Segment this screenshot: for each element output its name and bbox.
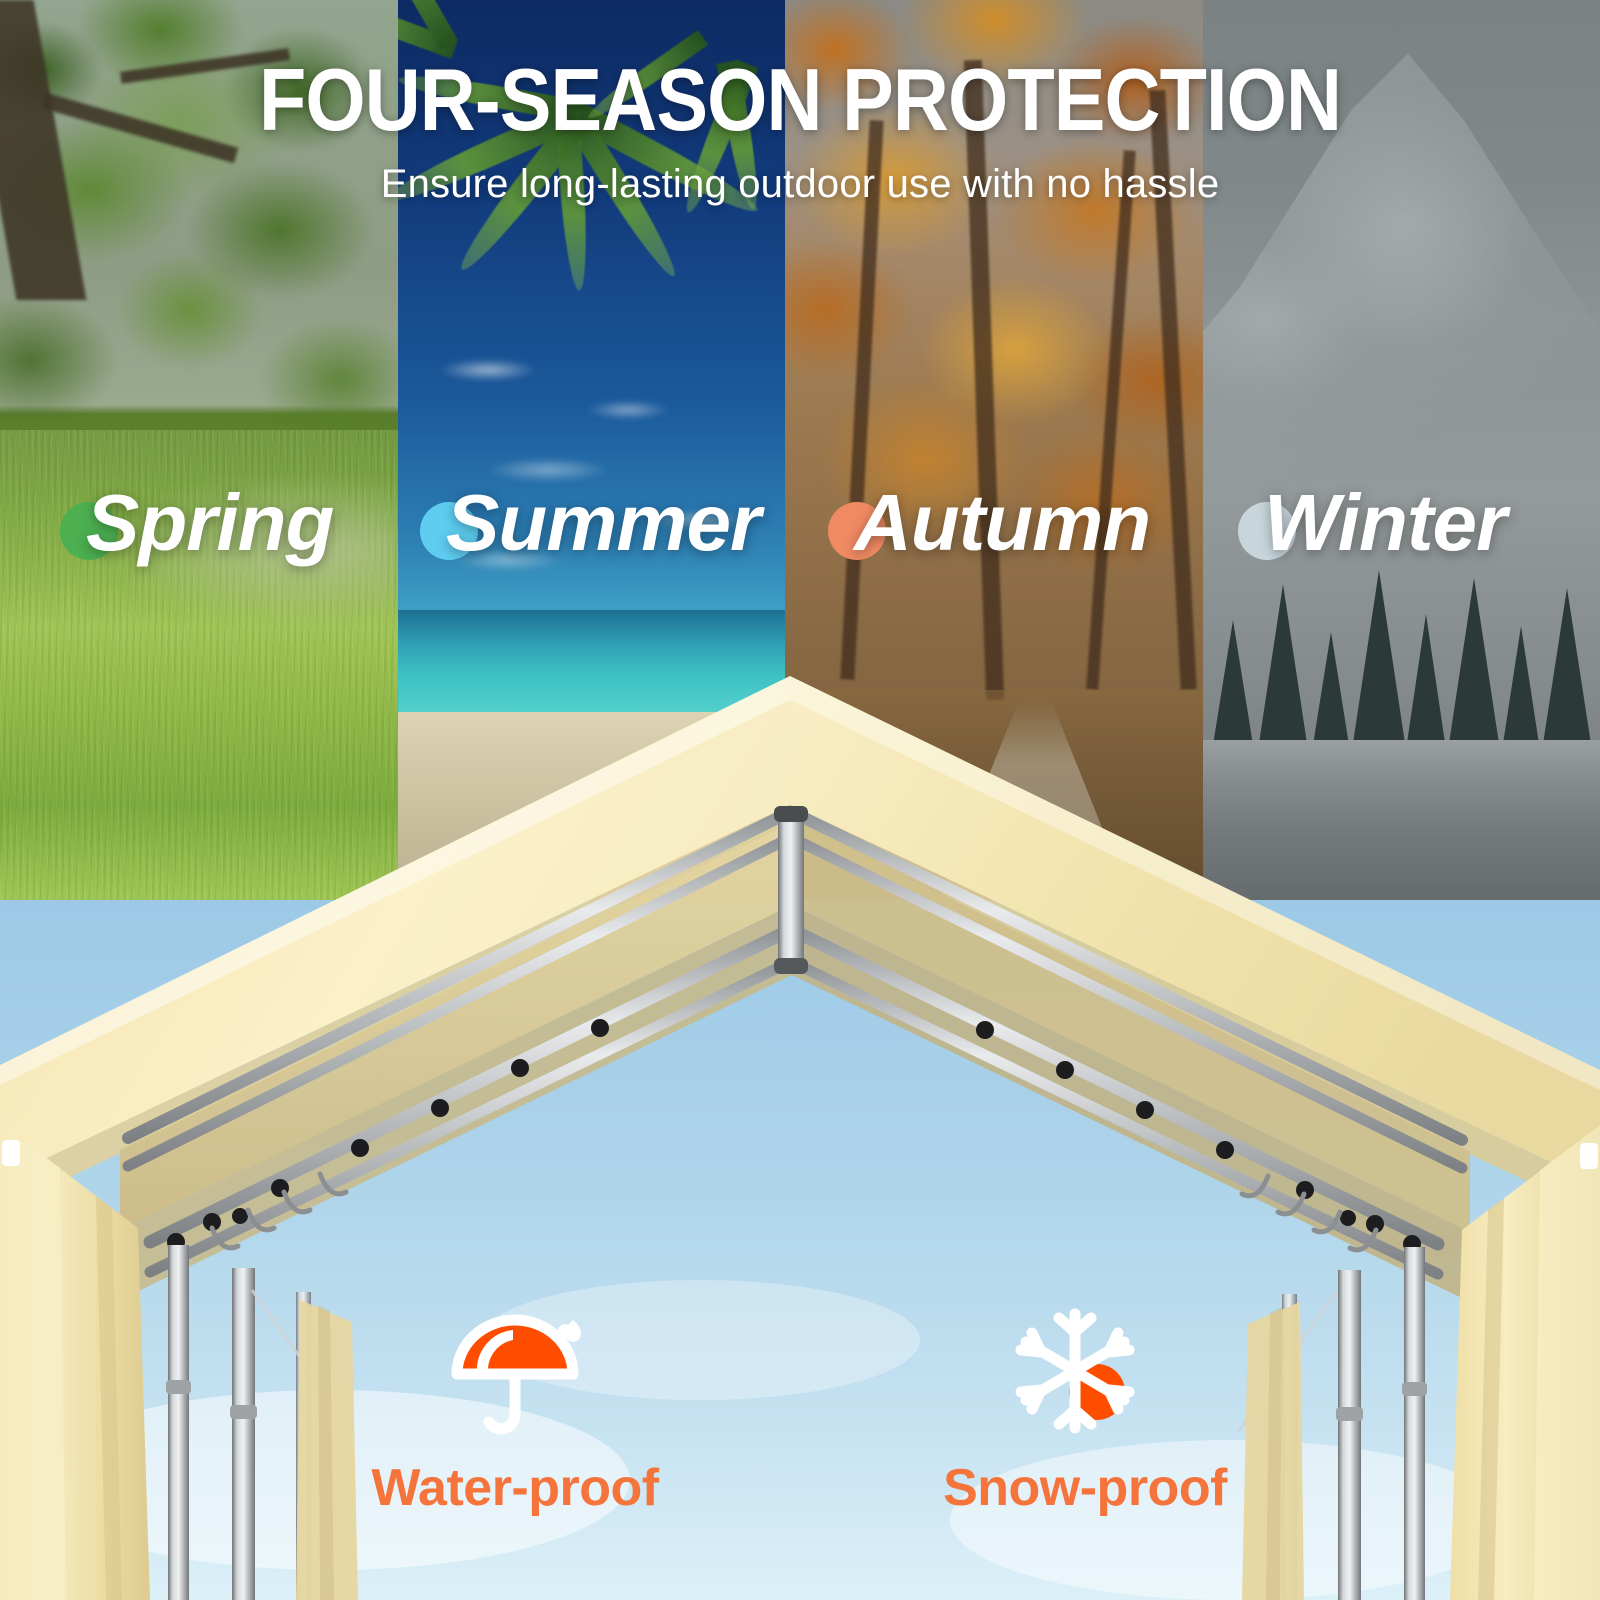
tent-side-curtain-right <box>1242 1118 1600 1600</box>
spring-light-haze <box>0 470 398 670</box>
snowy-road <box>1203 740 1600 900</box>
summer-ocean <box>398 610 785 720</box>
bungee-hooks <box>212 1174 1376 1250</box>
season-background-strip <box>0 0 1600 900</box>
season-panel-spring <box>0 0 398 900</box>
tent-corner-posts <box>166 1245 1427 1600</box>
pine-tree-row <box>1203 540 1600 770</box>
season-panel-autumn <box>785 0 1203 900</box>
tension-wires <box>252 1290 1336 1432</box>
feature-label: Snow-proof <box>915 1462 1255 1514</box>
canopy-tie-tabs <box>2 1140 1598 1169</box>
canopy-clips <box>167 1019 1421 1253</box>
feature-label: Water-proof <box>345 1462 685 1514</box>
summer-beach <box>398 712 785 900</box>
umbrella-with-raindrops-icon <box>345 1300 685 1450</box>
season-panel-winter <box>1203 0 1600 900</box>
feature-water-proof: Water-proof <box>345 1300 685 1514</box>
palm-tree <box>398 0 785 460</box>
feature-snow-proof: Snow-proof <box>915 1300 1255 1514</box>
snowflake-with-sun-icon <box>915 1300 1255 1450</box>
feature-badge-row: Water-proof <box>0 1300 1600 1514</box>
product-marketing-image: FOUR-SEASON PROTECTION Ensure long-lasti… <box>0 0 1600 1600</box>
tent-side-curtain-left <box>0 1115 358 1600</box>
sky-through-tent <box>0 900 1600 1600</box>
season-panel-summer <box>398 0 785 900</box>
